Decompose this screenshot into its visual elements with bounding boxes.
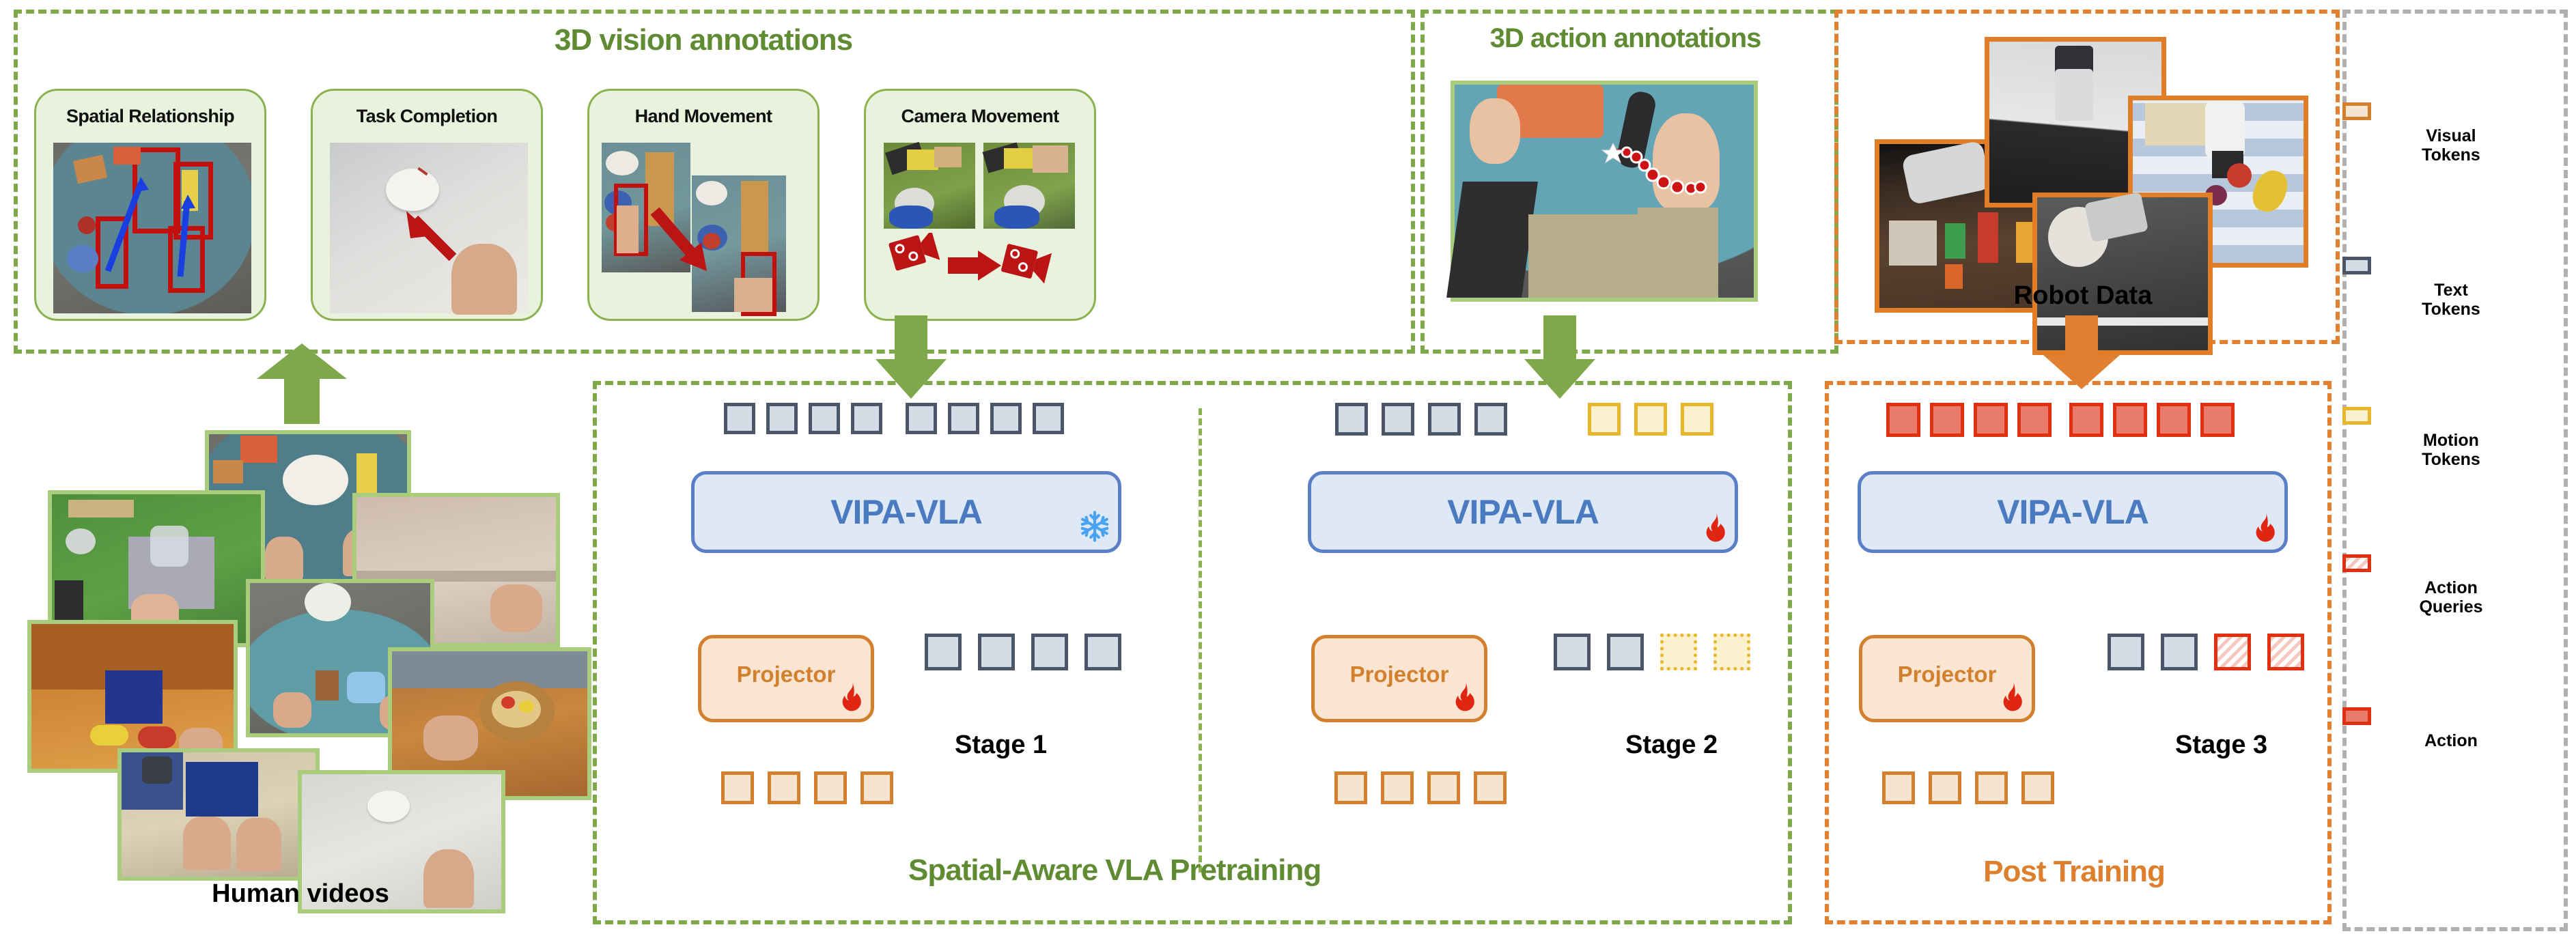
legend-item-text-tokens: Text Tokens: [0, 257, 2576, 319]
stage2-vipa-vla-box: VIPA-VLA: [1308, 471, 1738, 553]
stage2-projector-box: Projector: [1311, 635, 1487, 722]
text-token: [948, 403, 979, 434]
legend-label: Visual Tokens: [2342, 126, 2560, 165]
motion-token: [1634, 403, 1667, 436]
human-video-7: [117, 748, 320, 881]
model-name: VIPA-VLA: [830, 492, 982, 532]
stage3-projector-box: Projector: [1859, 635, 2035, 722]
action-token: [1930, 403, 1964, 437]
action-token: [2017, 403, 2052, 437]
text-token: [2161, 634, 2198, 670]
flame-icon: [1996, 679, 2026, 716]
visual-token: [1334, 771, 1367, 804]
model-name: VIPA-VLA: [1447, 492, 1599, 532]
visual-token: [768, 771, 800, 804]
text-token: [851, 403, 882, 434]
motion-token: [1588, 403, 1621, 436]
text-token-swatch: [2342, 257, 2371, 274]
text-token: [1554, 634, 1591, 670]
visual-token: [721, 771, 754, 804]
action-to-stage2-arrow: [1523, 315, 1598, 400]
action-token: [1886, 403, 1920, 437]
text-token: [1382, 403, 1414, 436]
stage2-output-text-tokens: [1335, 403, 1507, 436]
text-token: [2108, 634, 2144, 670]
stage3-vipa-vla-box: VIPA-VLA: [1858, 471, 2288, 553]
action-query-token: [2267, 634, 2304, 670]
stage-2-label: Stage 2: [1625, 731, 1718, 760]
text-token: [1607, 634, 1644, 670]
stage-3-label: Stage 3: [2175, 731, 2267, 760]
stage2-input-side-tokens: [1554, 634, 1750, 670]
model-name: VIPA-VLA: [1997, 492, 2148, 532]
motion-token-placeholder: [1660, 634, 1697, 670]
text-token: [1033, 403, 1064, 434]
visual-token: [1381, 771, 1414, 804]
visual-token-swatch: [2342, 102, 2371, 120]
legend-label: Motion Tokens: [2342, 431, 2560, 469]
action-query-swatch: [2342, 554, 2371, 572]
visual-token: [860, 771, 893, 804]
action-token: [1974, 403, 2008, 437]
human-videos-to-vision-arrow: [254, 343, 350, 425]
visual-token: [1975, 771, 2008, 804]
visual-token: [1474, 771, 1507, 804]
action-query-token: [2214, 634, 2251, 670]
text-token: [1474, 403, 1507, 436]
robot-data-to-stage3-arrow: [2041, 315, 2123, 391]
visual-token: [814, 771, 847, 804]
action-token: [2113, 403, 2147, 437]
action-swatch: [2342, 707, 2371, 725]
projector-name: Projector: [1898, 662, 1997, 687]
flame-icon: [1699, 510, 1729, 547]
motion-token: [1681, 403, 1713, 436]
text-token: [990, 403, 1022, 434]
text-token: [1335, 403, 1368, 436]
projector-name: Projector: [1350, 662, 1449, 687]
stage1-input-side-text-tokens: [925, 634, 1121, 670]
text-token: [1031, 634, 1068, 670]
stage1-input-visual-tokens: [721, 771, 893, 804]
motion-token-placeholder: [1713, 634, 1750, 670]
action-annotations-title: 3D action annotations: [1420, 23, 1830, 54]
text-token: [809, 403, 840, 434]
legend-label: Action Queries: [2342, 578, 2560, 616]
stage2-input-visual-tokens: [1334, 771, 1507, 804]
stage-1-label: Stage 1: [955, 731, 1047, 760]
visual-token: [2021, 771, 2054, 804]
action-token: [2069, 403, 2103, 437]
projector-name: Projector: [737, 662, 836, 687]
text-token: [724, 403, 755, 434]
stage3-input-side-tokens: [2108, 634, 2304, 670]
stage2-output-motion-tokens: [1588, 403, 1713, 436]
flame-icon: [835, 679, 865, 716]
stage-divider: [1199, 408, 1202, 873]
stage1-vipa-vla-box: VIPA-VLA: [691, 471, 1121, 553]
legend-label: Action: [2342, 731, 2560, 750]
stage3-input-visual-tokens: [1882, 771, 2054, 804]
legend-item-visual-tokens: Visual Tokens: [0, 102, 2576, 165]
visual-token: [1929, 771, 1961, 804]
text-token: [906, 403, 937, 434]
pretraining-title: Spatial-Aware VLA Pretraining: [908, 853, 1321, 888]
text-token: [978, 634, 1015, 670]
human-videos-caption: Human videos: [123, 879, 478, 909]
text-token: [1084, 634, 1121, 670]
snowflake-icon: [1077, 509, 1112, 547]
text-token: [1428, 403, 1461, 436]
action-token: [2157, 403, 2191, 437]
flame-icon: [2249, 510, 2279, 547]
post-training-title: Post Training: [1825, 855, 2323, 889]
legend-label: Text Tokens: [2342, 281, 2560, 319]
stage1-output-text-tokens: [724, 403, 1064, 434]
text-token: [766, 403, 798, 434]
action-token: [2200, 403, 2235, 437]
visual-token: [1882, 771, 1915, 804]
visual-token: [1427, 771, 1460, 804]
motion-token-swatch: [2342, 407, 2371, 425]
flame-icon: [1448, 679, 1479, 716]
vision-annotations-title: 3D vision annotations: [0, 23, 1407, 57]
text-token: [925, 634, 962, 670]
stage3-output-action-tokens: [1886, 403, 2235, 437]
stage1-projector-box: Projector: [698, 635, 874, 722]
vision-to-stage1-arrow: [874, 315, 949, 400]
